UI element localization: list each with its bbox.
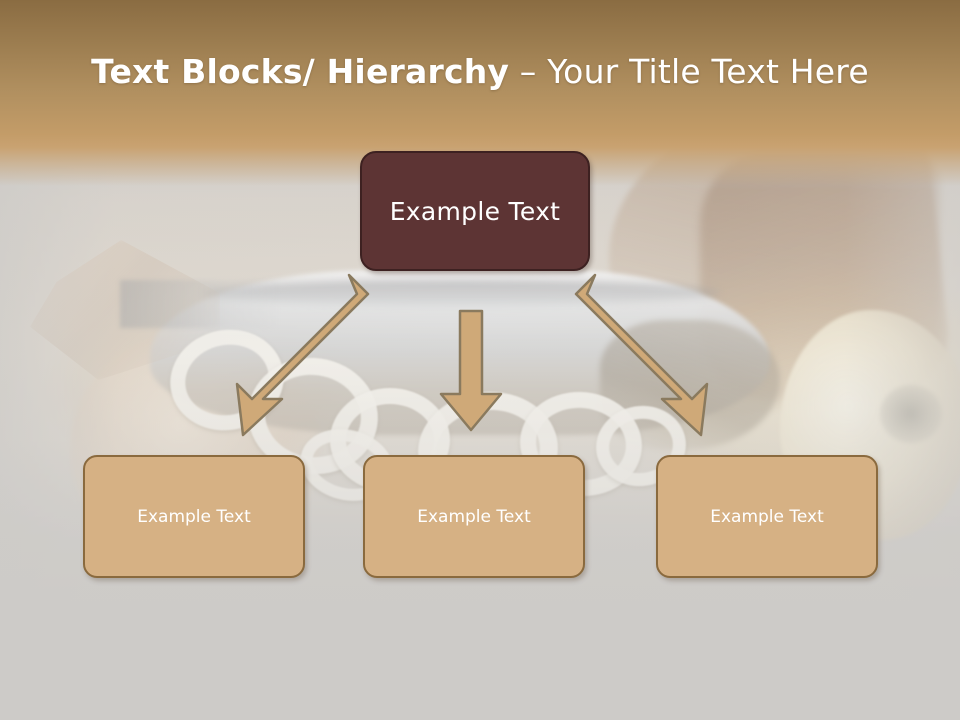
hierarchy-root-label: Example Text <box>390 197 561 226</box>
slide-canvas: Text Blocks/ Hierarchy – Your Title Text… <box>0 0 960 720</box>
hierarchy-child-label-3: Example Text <box>710 507 824 527</box>
hierarchy-child-box-2[interactable]: Example Text <box>363 455 585 578</box>
hierarchy-child-label-1: Example Text <box>137 507 251 527</box>
hierarchy-child-box-3[interactable]: Example Text <box>656 455 878 578</box>
hierarchy-root-box[interactable]: Example Text <box>360 151 590 271</box>
hierarchy-child-box-1[interactable]: Example Text <box>83 455 305 578</box>
page-title-bold: Text Blocks/ Hierarchy <box>91 52 509 91</box>
page-title-separator: – <box>509 52 547 91</box>
page-title-light: Your Title Text Here <box>547 52 869 91</box>
hierarchy-child-label-2: Example Text <box>417 507 531 527</box>
page-title: Text Blocks/ Hierarchy – Your Title Text… <box>0 50 960 94</box>
